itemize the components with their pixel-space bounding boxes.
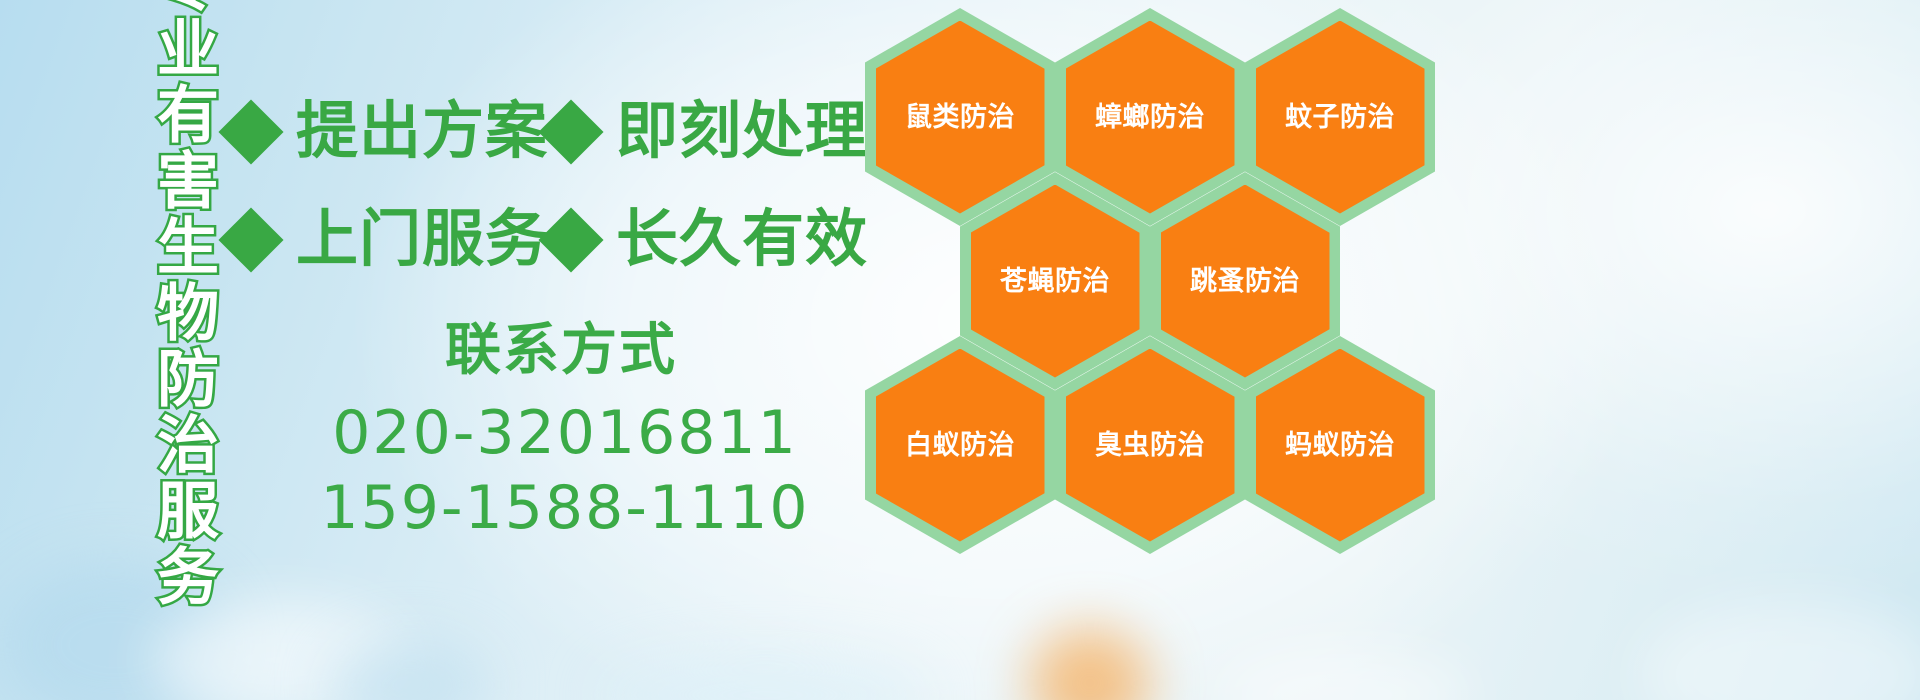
feature-label: 即刻处理	[616, 101, 868, 163]
feature-list: 提出方案 即刻处理 上门服务 长久有效	[228, 78, 868, 294]
hex-inner: 臭虫防治	[1066, 349, 1235, 542]
background-blur-blob	[330, 640, 490, 700]
hex-inner: 白蚁防治	[876, 349, 1045, 542]
background-blur-blob	[1640, 600, 1920, 700]
hex-label: 跳蚤防治	[1190, 268, 1300, 295]
background-blur-blob	[1220, 650, 1470, 700]
hex-label: 蚊子防治	[1285, 104, 1395, 131]
hex-inner: 鼠类防治	[876, 21, 1045, 214]
hex-label: 苍蝇防治	[1000, 268, 1110, 295]
hex-label: 蚂蚁防治	[1285, 432, 1395, 459]
hex-inner: 蚂蚁防治	[1256, 349, 1425, 542]
hex-label: 白蚁防治	[905, 432, 1015, 459]
hex-label: 蟑螂防治	[1095, 104, 1205, 131]
hex-inner: 蚊子防治	[1256, 21, 1425, 214]
hex-label: 臭虫防治	[1095, 432, 1205, 459]
background-blur-blob	[1030, 628, 1150, 700]
diamond-icon	[218, 99, 283, 164]
feature-item-long-lasting-effect: 长久有效	[548, 209, 868, 271]
background-blur-blob	[600, 655, 930, 700]
hex-inner: 蟑螂防治	[1066, 21, 1235, 214]
diamond-icon	[538, 207, 603, 272]
service-honeycomb: 鼠类防治 蟑螂防治 蚊子防治 苍蝇防治 跳蚤防治 白蚁防治	[855, 0, 1455, 576]
phone-mobile[interactable]: 159-1588-1110	[300, 471, 830, 546]
phone-landline[interactable]: 020-32016811	[300, 396, 830, 471]
contact-block: 联系方式 020-32016811 159-1588-1110	[300, 318, 830, 546]
promo-banner: 专业有害生物防治服务 提出方案 即刻处理 上门服务 长久有效	[0, 0, 1920, 700]
hex-label: 鼠类防治	[905, 104, 1015, 131]
contact-title: 联系方式	[292, 318, 830, 382]
feature-row: 上门服务 长久有效	[228, 186, 868, 294]
feature-label: 上门服务	[296, 209, 548, 271]
diamond-icon	[218, 207, 283, 272]
feature-item-propose-plan: 提出方案	[228, 101, 548, 163]
feature-label: 长久有效	[616, 209, 868, 271]
background-blur-blob	[150, 600, 410, 700]
feature-label: 提出方案	[296, 101, 548, 163]
feature-row: 提出方案 即刻处理	[228, 78, 868, 186]
feature-item-immediate-handling: 即刻处理	[548, 101, 868, 163]
vertical-headline: 专业有害生物防治服务	[108, 10, 212, 550]
hex-inner: 苍蝇防治	[971, 185, 1140, 378]
diamond-icon	[538, 99, 603, 164]
feature-item-door-to-door-service: 上门服务	[228, 209, 548, 271]
hex-inner: 跳蚤防治	[1161, 185, 1330, 378]
